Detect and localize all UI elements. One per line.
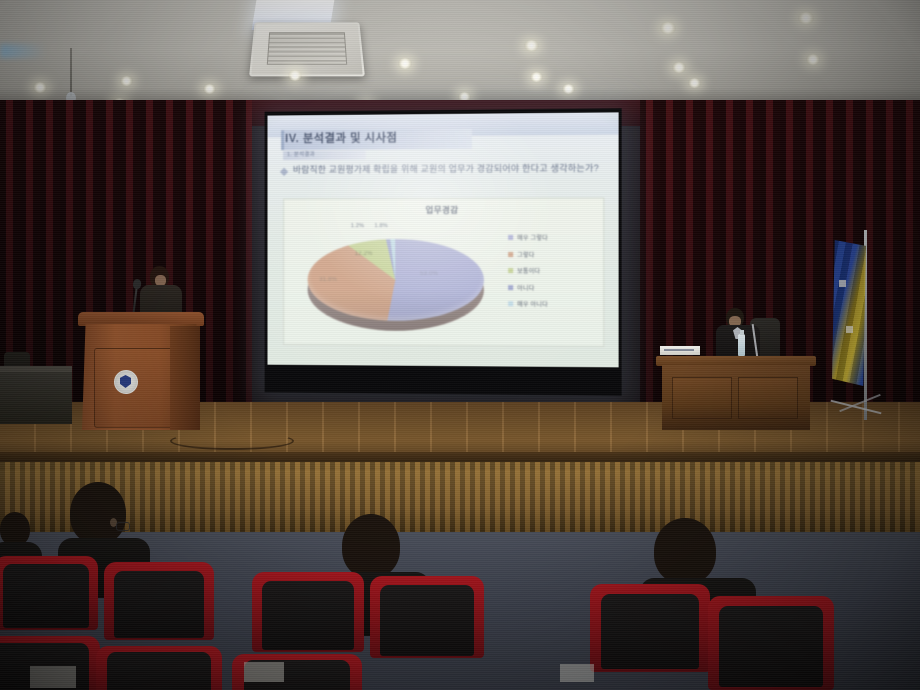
pie-label-no: 1.8% [374, 223, 387, 229]
seat-cushion [262, 581, 354, 650]
legend-swatch-icon [508, 235, 513, 240]
handout-paper [560, 664, 594, 682]
legend-item: 매우 아니다 [508, 299, 593, 308]
downlight [33, 82, 47, 93]
legend-swatch-icon [508, 285, 513, 290]
downlight [688, 78, 701, 88]
table-body [662, 365, 810, 430]
seat-cushion [601, 594, 699, 670]
legend-item: 보통이다 [508, 266, 593, 275]
audience-seat [708, 596, 834, 690]
water-bottle [738, 334, 745, 356]
handout-paper [30, 666, 76, 688]
audience-seat [370, 576, 484, 658]
audience-seat [0, 556, 98, 630]
pie-label-very-no: 1.2% [351, 223, 364, 229]
downlight [798, 12, 814, 24]
downlight [806, 54, 820, 65]
projection-screen: IV. 분석결과 및 시사점 1. 분석결과 바람직한 교원평가제 확립을 위해… [265, 108, 622, 395]
hanging-wire [70, 48, 72, 96]
downlight [288, 70, 302, 81]
university-emblem-icon [114, 370, 138, 394]
head-table [662, 356, 810, 430]
flag-crest-icon [846, 326, 853, 333]
downlight [530, 72, 543, 82]
podium-top [78, 312, 204, 326]
auditorium-scene: IV. 분석결과 및 시사점 1. 분석결과 바람직한 교원평가제 확립을 위해… [0, 0, 920, 690]
audience-seat [252, 572, 364, 652]
podium [82, 312, 200, 430]
downlight [672, 62, 686, 73]
slide-sub-tab-label: 1. 분석결과 [287, 150, 315, 160]
wall-light-glow [0, 44, 46, 58]
chart-legend: 매우 그렇다 그렇다 보통이다 아니다 [508, 233, 593, 316]
slide-section-title: IV. 분석결과 및 시사점 [285, 129, 397, 149]
podium-side-panel [170, 326, 200, 430]
chart-title: 업무경감 [284, 203, 603, 216]
chart-panel: 업무경감 1.2% 1.8% 12.2% 31.8% 53.0% [283, 197, 604, 347]
downlight [562, 84, 575, 94]
pie-chart: 1.2% 1.8% 12.2% 31.8% 53.0% [300, 221, 494, 337]
floor-cable [170, 432, 294, 450]
flag-crest-icon [839, 280, 846, 287]
seat-cushion [114, 571, 204, 638]
audience-head [0, 512, 30, 546]
pie-label-strongly-yes: 53.0% [420, 271, 438, 277]
audience-head [70, 482, 126, 544]
downlight [398, 58, 412, 69]
vent-grille [267, 32, 347, 64]
bullet-diamond-icon [280, 168, 288, 176]
presentation-slide: IV. 분석결과 및 시사점 1. 분석결과 바람직한 교원평가제 확립을 위해… [268, 112, 619, 367]
eyeglasses-icon [116, 522, 130, 531]
audience-seat [96, 646, 222, 690]
audience-seat [590, 584, 710, 672]
air-conditioner-vent [249, 22, 365, 76]
downlight [120, 76, 133, 86]
downlight [203, 84, 216, 94]
legend-label: 보통이다 [517, 266, 540, 275]
legend-label: 매우 그렇다 [517, 233, 548, 242]
legend-swatch-icon [508, 268, 513, 273]
legend-label: 매우 아니다 [517, 299, 548, 308]
table-panel [672, 377, 732, 419]
seat-cushion [107, 652, 210, 690]
flag-stand-leg [831, 400, 882, 415]
audience-head [342, 514, 400, 578]
flag-cloth [832, 240, 866, 386]
pie-label-yes: 31.8% [319, 277, 337, 283]
institutional-flag [818, 240, 888, 440]
seat-cushion [3, 564, 88, 628]
seat-cushion [380, 585, 473, 656]
legend-label: 그렇다 [517, 249, 534, 258]
legend-swatch-icon [508, 301, 513, 306]
handout-paper [244, 662, 284, 682]
nameplate [660, 346, 700, 355]
audience-seat [104, 562, 214, 640]
side-table [0, 366, 72, 424]
audience-head [654, 518, 716, 584]
legend-item: 아니다 [508, 283, 593, 292]
seat-cushion [719, 606, 822, 687]
pie-label-neutral: 12.2% [355, 251, 373, 257]
legend-item: 매우 그렇다 [508, 233, 593, 242]
projected-slide-surface: IV. 분석결과 및 시사점 1. 분석결과 바람직한 교원평가제 확립을 위해… [268, 112, 619, 367]
screen-lower-frame [265, 365, 622, 396]
legend-item: 그렇다 [508, 249, 593, 258]
slide-question-text: 바람직한 교원평가제 확립을 위해 교원의 업무가 경감되어야 한다고 생각하는… [293, 161, 606, 177]
downlight [660, 22, 676, 34]
wall-wainscot [0, 470, 920, 532]
legend-label: 아니다 [517, 283, 534, 292]
legend-swatch-icon [508, 251, 513, 256]
downlight [524, 40, 539, 51]
table-panel [738, 377, 798, 419]
